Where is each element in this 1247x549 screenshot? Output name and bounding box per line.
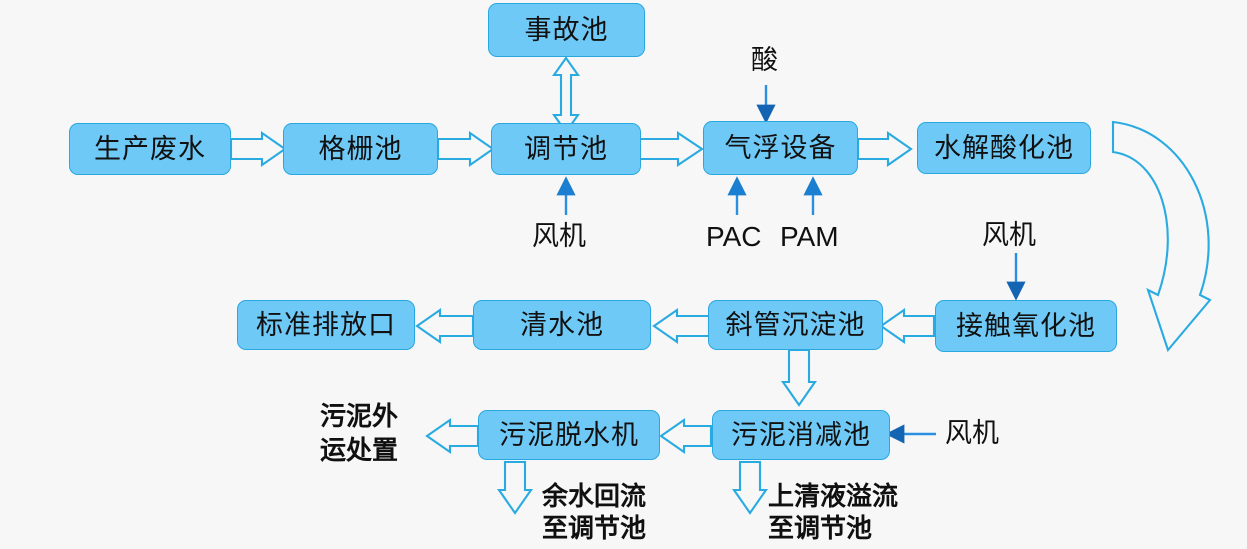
- connector-settler-to-clearwater: [654, 310, 709, 342]
- connector-clearwater-to-outfall: [417, 310, 473, 342]
- node-standard-outfall[interactable]: 标准排放口: [237, 300, 415, 350]
- node-grid-pool[interactable]: 格栅池: [283, 123, 438, 175]
- flowchart-canvas: 事故池 生产废水 格栅池 调节池 气浮设备 水解酸化池 接触氧化池 斜管沉淀池 …: [0, 0, 1247, 549]
- node-clear-water-pool[interactable]: 清水池: [473, 300, 651, 350]
- connector-dewaterer-to-residual-water: [499, 462, 531, 513]
- connector-settler-to-sludge-reduction: [783, 350, 815, 405]
- connector-flotation-to-hydrolysis: [858, 133, 911, 165]
- connector-grid-to-regulating: [438, 133, 493, 165]
- node-sludge-reduction[interactable]: 污泥消减池: [712, 410, 890, 460]
- connector-regulating-to-flotation: [640, 133, 702, 165]
- label-sludge-offsite-line1: 污泥外: [320, 403, 398, 431]
- label-blower-sludge: 风机: [945, 419, 999, 448]
- connector-hydrolysis-to-oxidation: [1113, 122, 1210, 350]
- connector-dewaterer-to-offsite: [427, 420, 478, 452]
- label-blower-regulating: 风机: [532, 222, 586, 251]
- label-supernatant-line1: 上清液溢流: [768, 483, 898, 511]
- connector-oxidation-to-settler: [881, 310, 934, 342]
- label-residual-water-line1: 余水回流: [542, 483, 646, 511]
- node-sludge-dewaterer[interactable]: 污泥脱水机: [478, 410, 660, 460]
- node-contact-oxidation[interactable]: 接触氧化池: [935, 300, 1117, 352]
- node-regulating-pool[interactable]: 调节池: [491, 123, 641, 175]
- label-pac: PAC: [706, 222, 762, 252]
- label-blower-oxidation: 风机: [982, 221, 1036, 250]
- node-hydrolysis-acid-pool[interactable]: 水解酸化池: [917, 122, 1091, 174]
- connector-sludge-reduction-to-dewaterer: [661, 420, 711, 452]
- label-pam: PAM: [780, 222, 839, 252]
- label-sludge-offsite-line2: 运处置: [320, 437, 398, 465]
- node-inclined-settler[interactable]: 斜管沉淀池: [708, 300, 883, 350]
- node-air-flotation[interactable]: 气浮设备: [703, 121, 858, 175]
- connector-sludge-reduction-to-supernatant: [734, 462, 766, 513]
- label-acid: 酸: [751, 46, 778, 75]
- label-supernatant-line2: 至调节池: [768, 515, 872, 543]
- connector-production-to-grid: [231, 133, 285, 165]
- label-residual-water-line2: 至调节池: [542, 515, 646, 543]
- node-accident-pool[interactable]: 事故池: [488, 3, 645, 57]
- connector-layer: [0, 0, 1247, 549]
- connector-regulating-accident-double: [554, 58, 578, 132]
- node-production-wastewater[interactable]: 生产废水: [69, 123, 231, 175]
